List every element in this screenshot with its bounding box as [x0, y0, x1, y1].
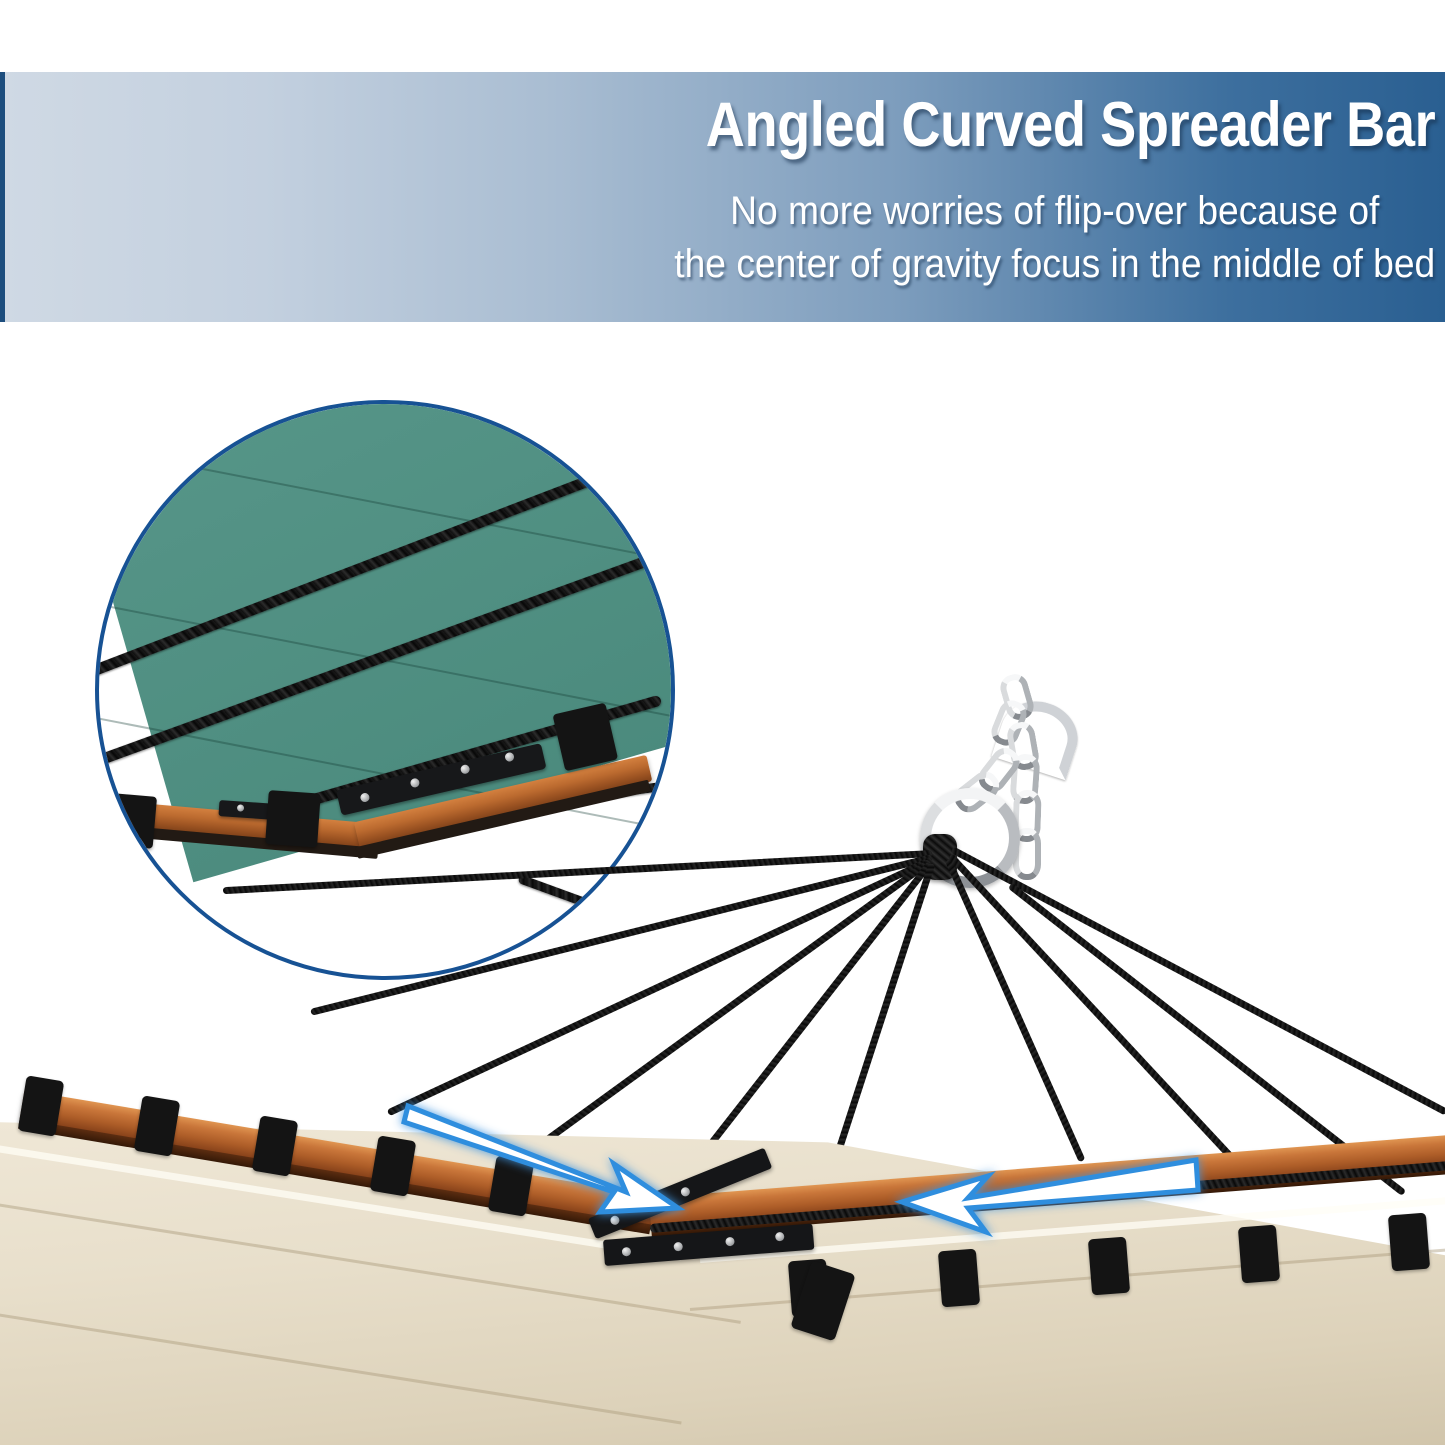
inset-bar-strap — [265, 790, 321, 847]
header-banner: Angled Curved Spreader Bar No more worri… — [0, 72, 1445, 322]
bar-strap — [1088, 1237, 1130, 1296]
rivet-icon — [504, 752, 515, 763]
bar-strap — [938, 1249, 980, 1308]
rivet-icon — [237, 804, 244, 811]
page-subtitle: No more worries of flip-over because of … — [674, 185, 1435, 291]
rivet-icon — [360, 792, 371, 803]
rivet-icon — [410, 778, 421, 789]
bar-strap — [1388, 1213, 1430, 1272]
page-title: Angled Curved Spreader Bar — [706, 94, 1435, 157]
angle-indicator-arrow-left — [404, 1100, 694, 1230]
page-subtitle-line-1: No more worries of flip-over because of — [674, 185, 1435, 238]
suspension-rope — [950, 846, 1445, 1115]
rivet-icon — [725, 1237, 735, 1247]
detail-inset-circle — [95, 400, 675, 980]
product-photo-stage — [0, 322, 1445, 1445]
page-subtitle-line-2: the center of gravity focus in the middl… — [674, 238, 1435, 291]
inset-bar-strap — [97, 792, 157, 849]
suspension-rope — [947, 853, 1239, 1165]
rivet-icon — [775, 1232, 785, 1242]
suspension-rope — [945, 858, 1086, 1162]
header-banner-text-block: Angled Curved Spreader Bar No more worri… — [0, 72, 1445, 322]
bar-strap — [1238, 1225, 1280, 1284]
rivet-icon — [673, 1242, 683, 1252]
rivet-icon — [622, 1247, 632, 1257]
rivet-icon — [460, 764, 471, 775]
angle-indicator-arrow-right — [890, 1150, 1200, 1245]
